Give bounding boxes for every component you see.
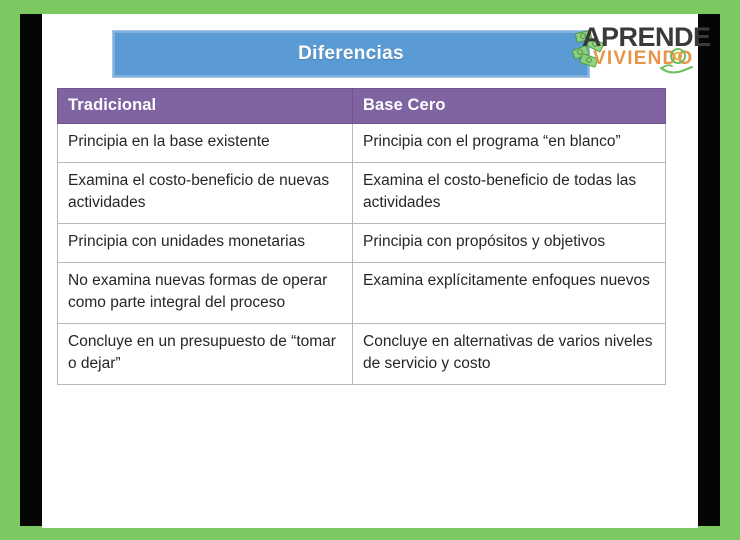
cell-base-cero: Concluye en alternativas de varios nivel… — [353, 324, 666, 385]
table-header-row: Tradicional Base Cero — [58, 89, 666, 124]
table-body: Principia en la base existente Principia… — [58, 124, 666, 385]
brand-logo: APRENDE VIVIENDO — [562, 22, 698, 82]
letterbox-bar-right — [698, 14, 720, 526]
cell-tradicional: Principia con unidades monetarias — [58, 224, 353, 263]
letterbox-bar-left — [20, 14, 42, 526]
cell-tradicional: No examina nuevas formas de operar como … — [58, 263, 353, 324]
slide-frame: Diferencias APRENDE VIVIENDO — [0, 0, 740, 540]
table-row: No examina nuevas formas de operar como … — [58, 263, 666, 324]
cell-base-cero: Examina el costo-beneficio de todas las … — [353, 163, 666, 224]
column-header-base-cero: Base Cero — [353, 89, 666, 124]
cell-base-cero: Principia con el programa “en blanco” — [353, 124, 666, 163]
cell-tradicional: Concluye en un presupuesto de “tomar o d… — [58, 324, 353, 385]
cell-tradicional: Principia en la base existente — [58, 124, 353, 163]
table-row: Principia en la base existente Principia… — [58, 124, 666, 163]
table-header: Tradicional Base Cero — [58, 89, 666, 124]
table-row: Concluye en un presupuesto de “tomar o d… — [58, 324, 666, 385]
slide-title-banner: Diferencias — [112, 30, 590, 78]
cell-base-cero: Principia con propósitos y objetivos — [353, 224, 666, 263]
table-row: Principia con unidades monetarias Princi… — [58, 224, 666, 263]
table-row: Examina el costo-beneficio de nuevas act… — [58, 163, 666, 224]
logo-word-primary: APRENDE — [582, 24, 711, 51]
cell-base-cero: Examina explícitamente enfoques nuevos — [353, 263, 666, 324]
hand-holding-coin-icon — [658, 48, 696, 78]
cell-tradicional: Examina el costo-beneficio de nuevas act… — [58, 163, 353, 224]
slide-title-text: Diferencias — [298, 43, 404, 65]
slide-canvas: Diferencias APRENDE VIVIENDO — [42, 14, 698, 528]
comparison-table: Tradicional Base Cero Principia en la ba… — [57, 88, 666, 385]
column-header-tradicional: Tradicional — [58, 89, 353, 124]
